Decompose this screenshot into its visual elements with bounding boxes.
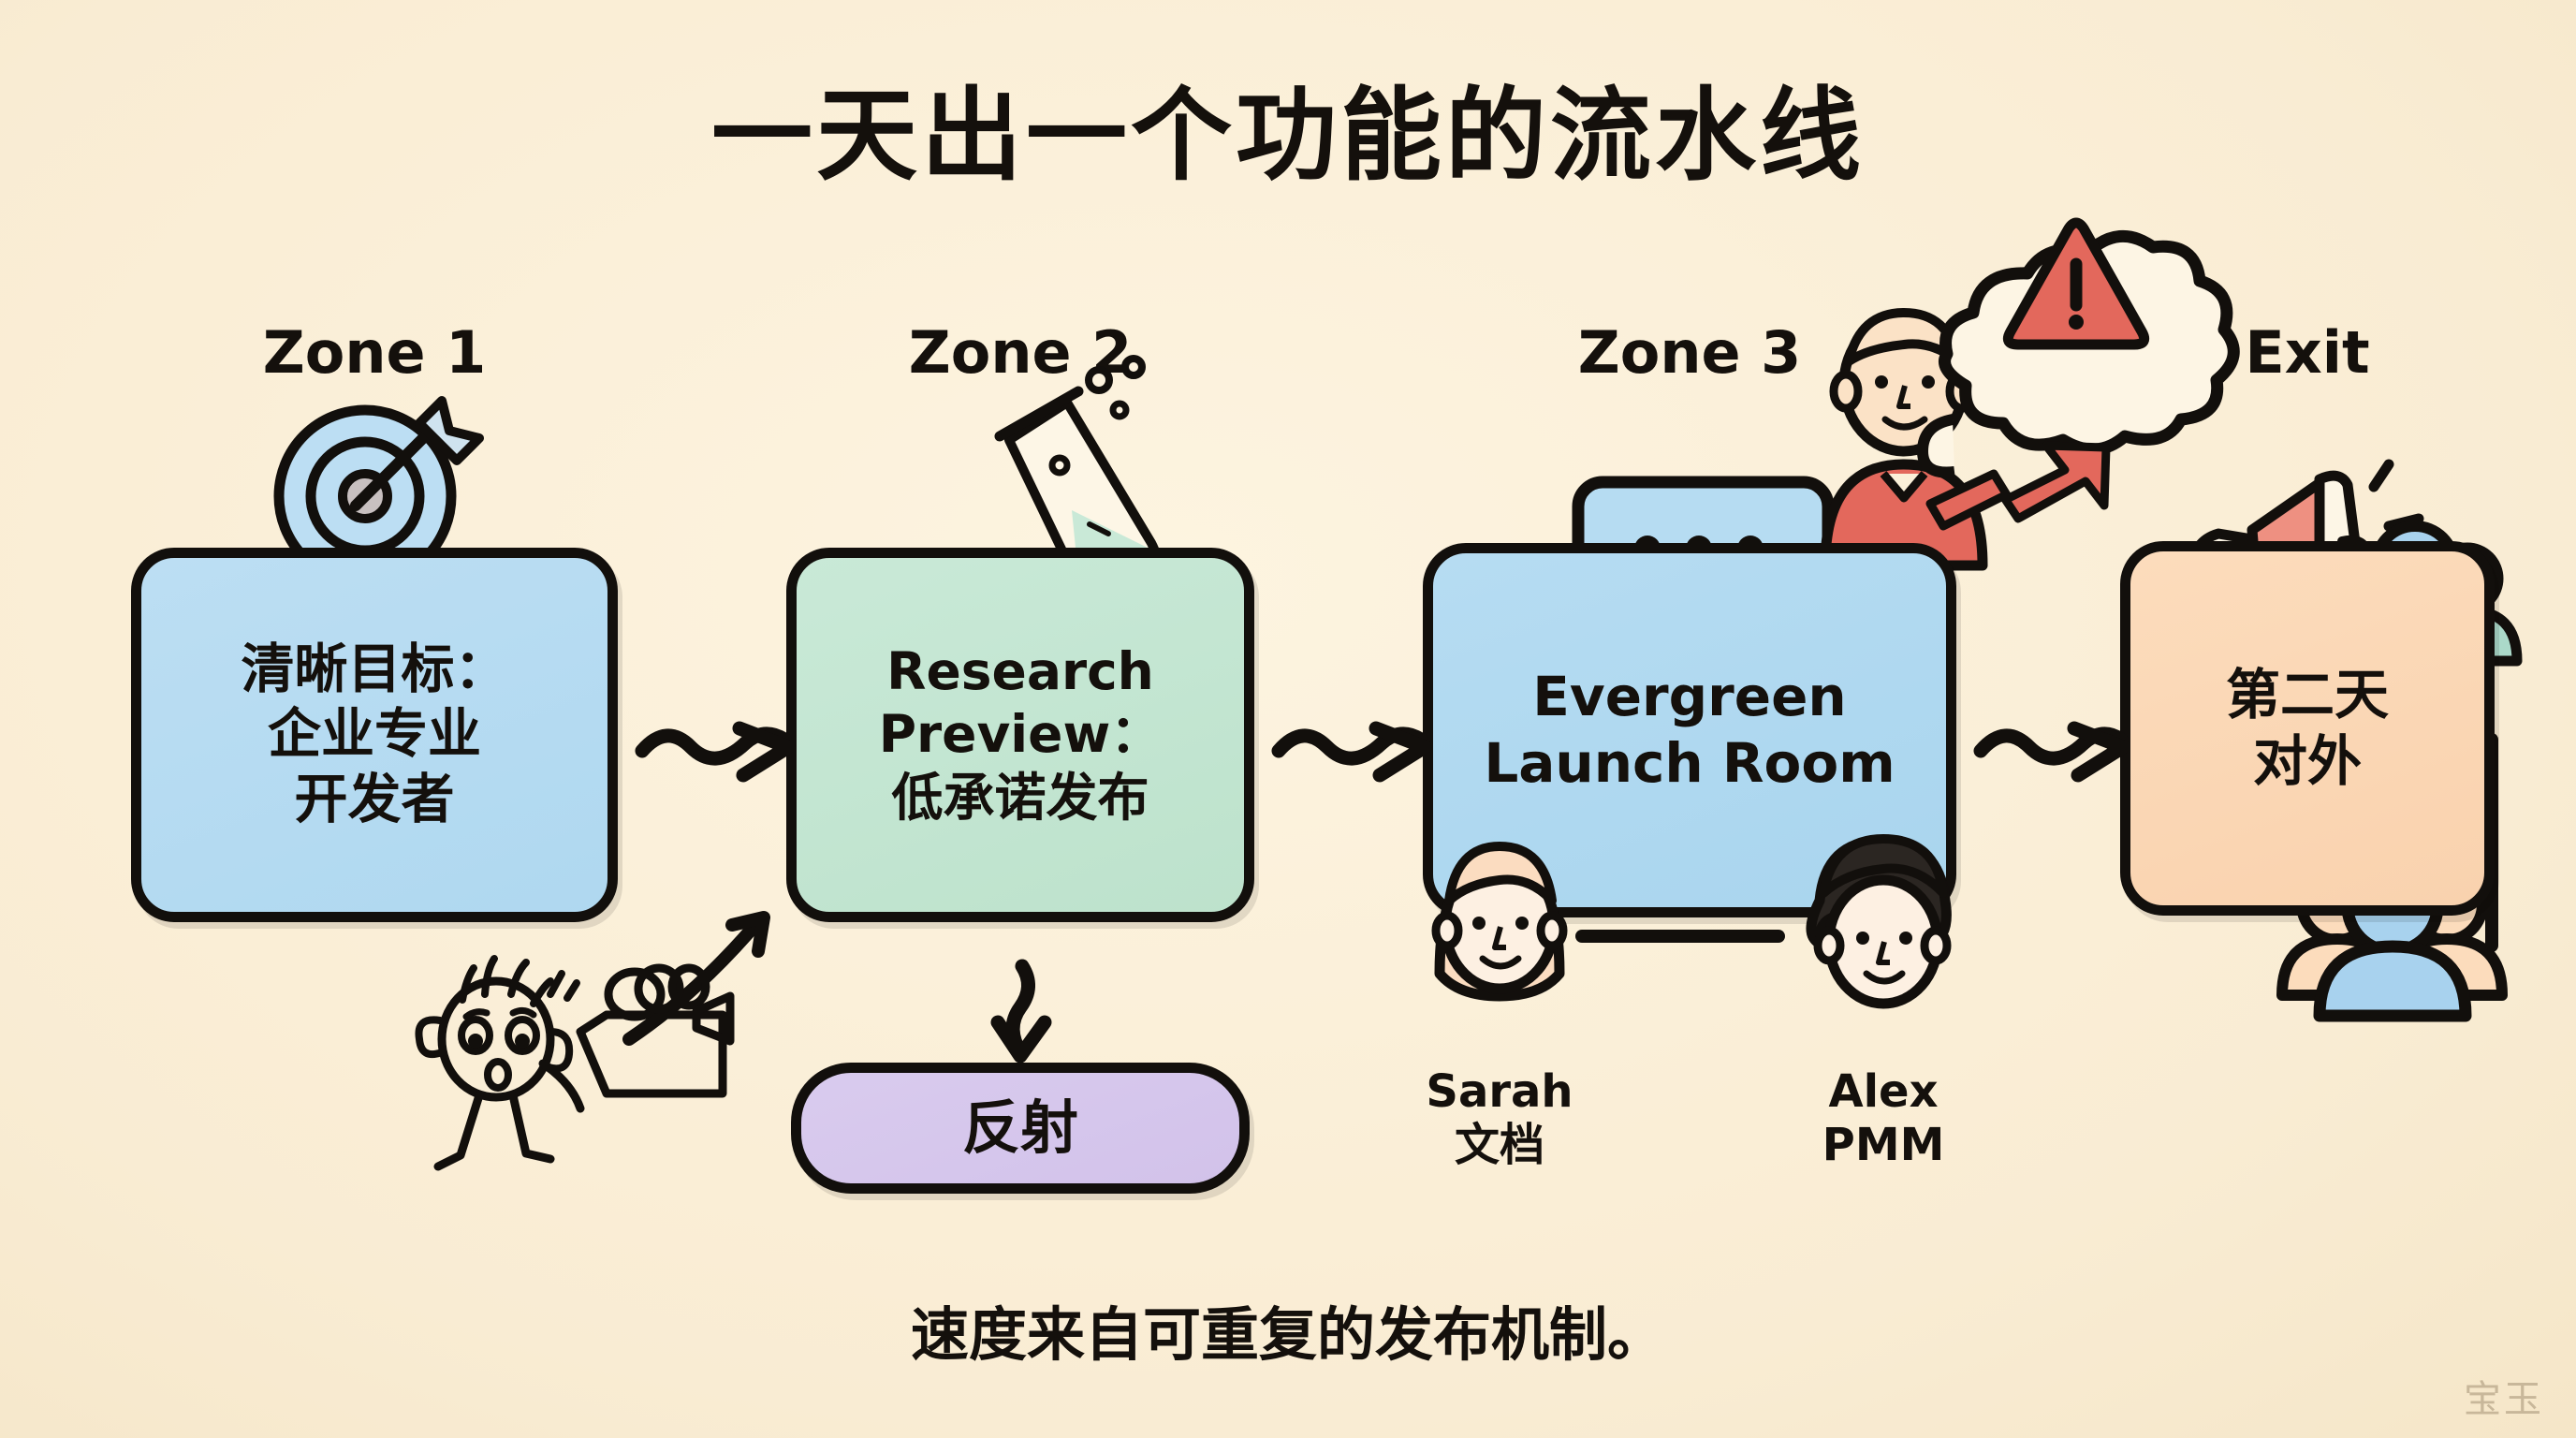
reflect-box-text: 反射 [945,1093,1095,1164]
zone-label-zone3: Zone 3 [1423,318,1956,387]
zone1-box-text: 清晰目标：企业专业开发者 [225,638,525,833]
zone3-box[interactable]: EvergreenLaunch Room [1423,543,1956,917]
down-arrow-reflect [998,966,1045,1056]
wavy-arrow-3 [1981,728,2123,775]
person-name-alex: Alex [1743,1065,2024,1119]
zone-label-zone2: Zone 2 [786,318,1254,387]
zone-label-zone1: Zone 1 [131,318,618,387]
footer-caption: 速度来自可重复的发布机制。 [0,1287,2576,1372]
wavy-arrow-2 [1279,728,1425,775]
red-zigzag-arrow-icon [1930,446,2106,526]
exit-box-text: 第二天对外 [2209,662,2406,795]
exit-box[interactable]: 第二天对外 [2120,541,2495,916]
person-label-alex: Alex PMM [1743,1065,2024,1171]
watermark: 宝玉 [2464,1369,2544,1423]
zone1-box[interactable]: 清晰目标：企业专业开发者 [131,548,618,922]
person-role-sarah: 文档 [1359,1119,1640,1172]
diagonal-arrow-doodle-head [732,917,764,951]
wavy-arrow-1 [642,728,788,775]
person-role-alex: PMM [1743,1119,2024,1172]
confused-stick-figure-icon [418,959,730,1167]
zone-label-exit: Exit [2120,318,2495,387]
zone2-box[interactable]: ResearchPreview：低承诺发布 [786,548,1254,922]
diagram-canvas: 一天出一个功能的流水线 Zone 1 Zone 2 Zone 3 Exit 清晰… [0,0,2576,1438]
zone3-box-text: EvergreenLaunch Room [1467,664,1911,797]
person-name-sarah: Sarah [1359,1065,1640,1119]
diagonal-arrow-doodle [629,919,760,1039]
page-title: 一天出一个功能的流水线 [0,54,2576,200]
reflect-box[interactable]: 反射 [791,1063,1250,1194]
person-label-sarah: Sarah 文档 [1359,1065,1640,1171]
zone2-box-text: ResearchPreview：低承诺发布 [862,640,1179,829]
